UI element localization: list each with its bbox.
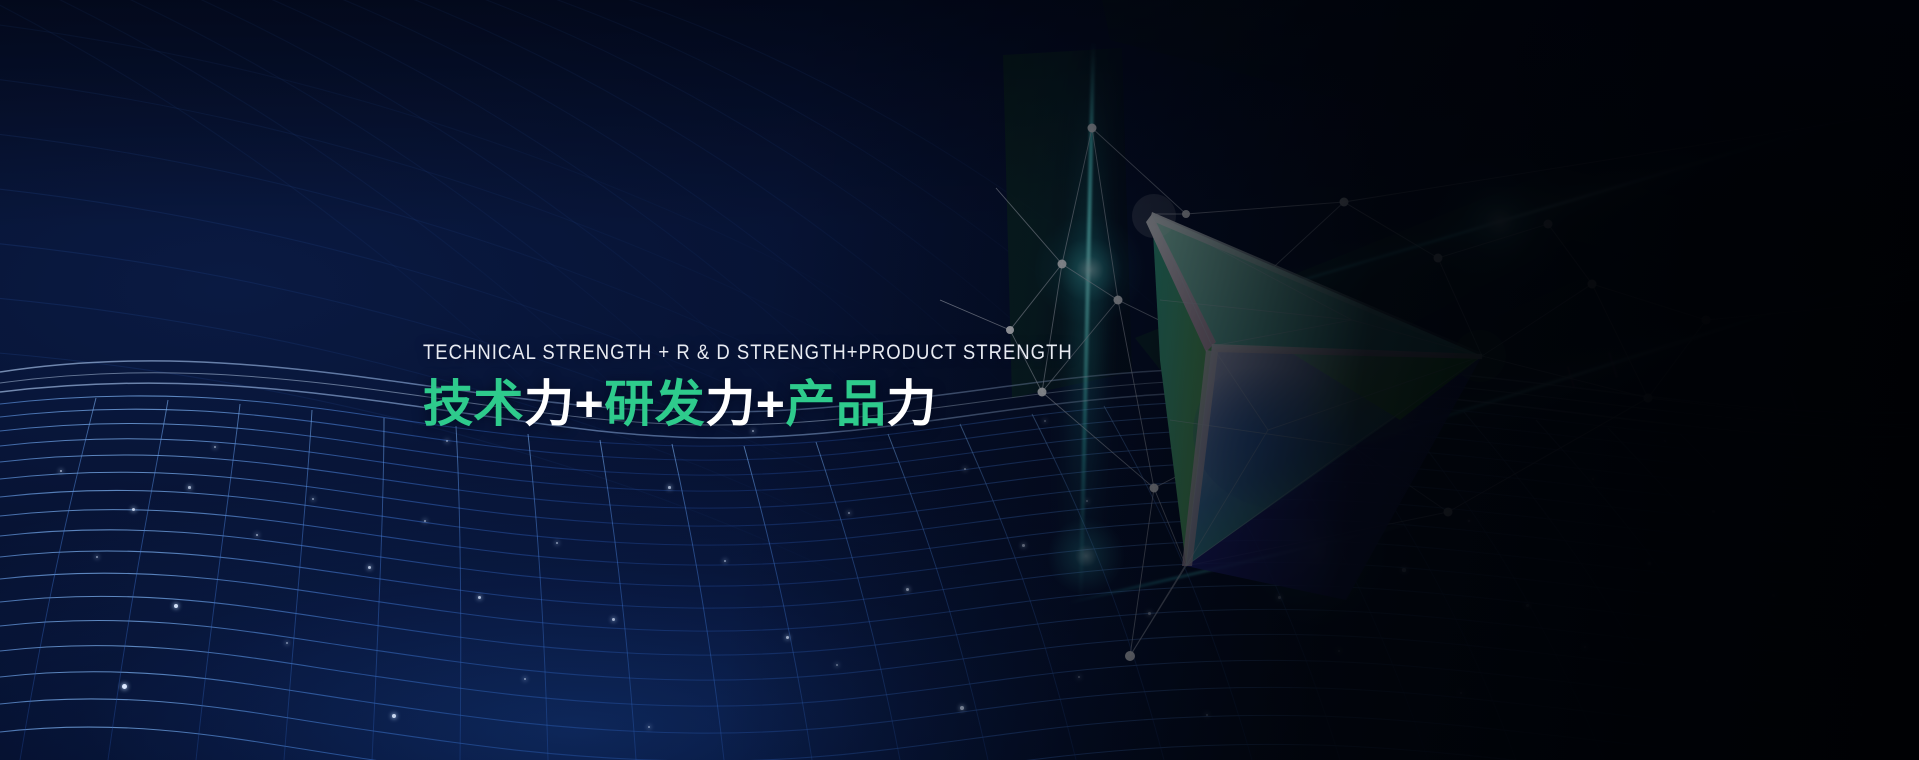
tagline-english: TECHNICAL STRENGTH + R & D STRENGTH+PROD… bbox=[423, 342, 973, 364]
headline-seg-tech: 技术 bbox=[423, 376, 524, 432]
headline-plus-1: + bbox=[575, 376, 605, 432]
headline-seg-tech-li: 力 bbox=[524, 376, 575, 432]
headline-seg-product-li: 力 bbox=[886, 376, 937, 432]
hero-banner: TECHNICAL STRENGTH + R & D STRENGTH+PROD… bbox=[0, 0, 1919, 760]
headline-plus-2: + bbox=[756, 376, 786, 432]
headline-chinese: 技术力+研发力+产品力 bbox=[423, 378, 1063, 430]
headline-seg-product: 产品 bbox=[785, 376, 886, 432]
headline-seg-rd-li: 力 bbox=[705, 376, 756, 432]
headline-seg-rd: 研发 bbox=[604, 376, 705, 432]
hero-text-block: TECHNICAL STRENGTH + R & D STRENGTH+PROD… bbox=[423, 342, 1063, 430]
